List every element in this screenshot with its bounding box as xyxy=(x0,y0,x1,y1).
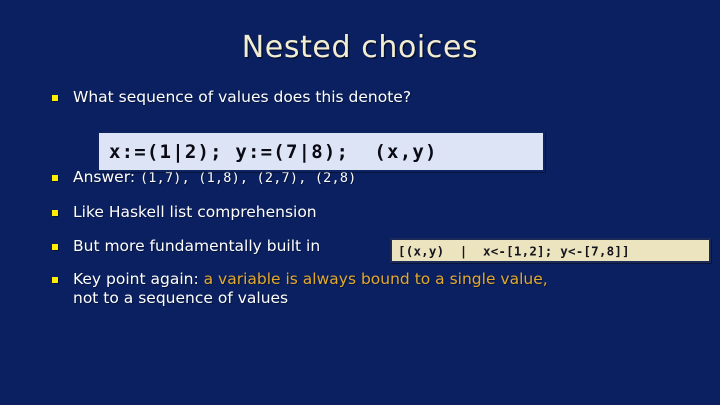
bullet-item-key-point: Key point again: a variable is always bo… xyxy=(44,270,716,308)
key-point-highlight: a variable is always bound to a single v… xyxy=(204,270,548,288)
square-bullet-icon xyxy=(52,277,58,283)
code-box-haskell: [(x,y) | x<-[1,2]; y<-[7,8]] xyxy=(390,238,711,263)
built-in-label: But more fundamentally built in xyxy=(73,237,320,255)
bullet-question-label: What sequence of values does this denote… xyxy=(73,88,411,106)
slide-canvas: Nested choices What sequence of values d… xyxy=(0,0,720,405)
code-haskell-text: [(x,y) | x<-[1,2]; y<-[7,8]] xyxy=(398,243,630,258)
bullet-item-question: What sequence of values does this denote… xyxy=(44,88,716,107)
key-point-second-line: not to a sequence of values xyxy=(73,289,716,308)
square-bullet-icon xyxy=(52,175,58,181)
square-bullet-icon xyxy=(52,210,58,216)
haskell-label: Like Haskell list comprehension xyxy=(73,203,317,221)
code-box-expression: x:=(1|2); y:=(7|8); (x,y) xyxy=(97,131,545,172)
page-title: Nested choices xyxy=(0,30,720,65)
answer-tuple-list: (1,7), (1,8), (2,7), (2,8) xyxy=(140,170,357,186)
square-bullet-icon xyxy=(52,95,58,101)
code-expression-text: x:=(1|2); y:=(7|8); (x,y) xyxy=(109,141,438,163)
square-bullet-icon xyxy=(52,244,58,250)
bullet-item-haskell: Like Haskell list comprehension xyxy=(44,203,716,222)
key-point-label: Key point again: xyxy=(73,270,204,288)
slide-body: What sequence of values does this denote… xyxy=(44,88,716,308)
